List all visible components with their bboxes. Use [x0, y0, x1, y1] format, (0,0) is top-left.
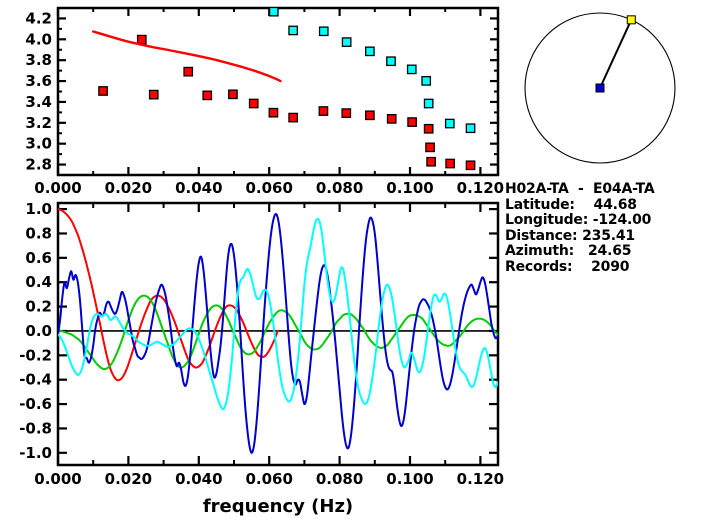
- data-point-marker: [229, 90, 237, 98]
- latitude-row: Latitude: 44.68: [505, 198, 703, 214]
- x-tick-label: 0.020: [105, 470, 152, 488]
- data-point-marker: [270, 7, 278, 15]
- azimuth-row: Azimuth: 24.65: [505, 244, 703, 260]
- x-tick-label: 0.100: [386, 179, 433, 197]
- x-tick-label: 0.000: [34, 179, 81, 197]
- y-tick-label: 4.2: [25, 9, 52, 27]
- blue-station-dot: [596, 84, 604, 92]
- y-tick-label: 2.8: [25, 156, 52, 174]
- y-tick-label: -0.2: [19, 346, 52, 364]
- x-tick-label: 0.080: [316, 179, 363, 197]
- data-point-marker: [203, 91, 211, 99]
- y-tick-label: 3.0: [25, 135, 52, 153]
- x-tick-label: 0.020: [105, 179, 152, 197]
- x-tick-label: 0.080: [316, 470, 363, 488]
- data-point-marker: [387, 57, 395, 65]
- y-tick-label: 1.0: [25, 200, 52, 218]
- y-tick-label: -0.4: [19, 371, 52, 389]
- waveform-plot: 0.0000.0200.0400.0600.0800.1000.120-1.0-…: [0, 196, 505, 519]
- y-tick-label: 3.2: [25, 114, 52, 132]
- x-tick-label: 0.040: [175, 470, 222, 488]
- x-tick-label: 0.100: [386, 470, 433, 488]
- dispersion-plot-svg: 0.0000.0200.0400.0600.0800.1000.1202.83.…: [0, 0, 505, 200]
- y-tick-label: 3.6: [25, 72, 52, 90]
- data-point-marker: [446, 159, 454, 167]
- data-point-marker: [388, 115, 396, 123]
- data-point-marker: [366, 47, 374, 55]
- data-point-marker: [342, 38, 350, 46]
- data-point-marker: [426, 143, 434, 151]
- dispersion-plot: 0.0000.0200.0400.0600.0800.1000.1202.83.…: [0, 0, 505, 200]
- y-tick-label: -0.6: [19, 395, 52, 413]
- data-point-marker: [466, 161, 474, 169]
- y-tick-label: 0.4: [25, 273, 52, 291]
- data-point-marker: [342, 109, 350, 117]
- station-pair-map: [505, 0, 703, 182]
- station-pair-map-svg: [505, 0, 703, 182]
- y-tick-label: 0.8: [25, 224, 52, 242]
- data-point-marker: [424, 99, 432, 107]
- data-point-marker: [427, 158, 435, 166]
- data-point-marker: [466, 124, 474, 132]
- data-point-marker: [184, 67, 192, 75]
- data-point-marker: [424, 125, 432, 133]
- x-tick-label: 0.040: [175, 179, 222, 197]
- data-point-marker: [138, 35, 146, 43]
- longitude-row: Longitude: -124.00: [505, 213, 703, 229]
- data-point-marker: [366, 111, 374, 119]
- records-row: Records: 2090: [505, 260, 703, 276]
- station-pair-title: H02A-TA - E04A-TA: [505, 182, 703, 198]
- y-tick-label: 3.8: [25, 51, 52, 69]
- data-point-marker: [319, 107, 327, 115]
- data-point-marker: [422, 77, 430, 85]
- x-tick-label: 0.060: [245, 470, 292, 488]
- data-point-marker: [320, 27, 328, 35]
- data-point-marker: [250, 99, 258, 107]
- y-tick-label: -0.8: [19, 419, 52, 437]
- data-point-marker: [289, 113, 297, 121]
- x-tick-label: 0.120: [457, 470, 504, 488]
- y-tick-label: 0.0: [25, 322, 52, 340]
- azimuth-line: [600, 20, 631, 88]
- x-tick-label: 0.000: [34, 470, 81, 488]
- yellow-station-dot: [627, 16, 635, 24]
- data-point-marker: [150, 90, 158, 98]
- y-tick-label: 4.0: [25, 30, 52, 48]
- data-point-marker: [408, 65, 416, 73]
- data-point-marker: [408, 118, 416, 126]
- y-tick-label: -1.0: [19, 444, 52, 462]
- data-point-marker: [99, 87, 107, 95]
- distance-row: Distance: 235.41: [505, 229, 703, 245]
- waveform-plot-svg: 0.0000.0200.0400.0600.0800.1000.120-1.0-…: [0, 196, 505, 519]
- data-point-marker: [269, 108, 277, 116]
- x-axis-title: frequency (Hz): [203, 496, 353, 517]
- y-tick-label: 0.6: [25, 249, 52, 267]
- x-tick-label: 0.060: [245, 179, 292, 197]
- data-point-marker: [446, 119, 454, 127]
- data-point-marker: [289, 26, 297, 34]
- x-tick-label: 0.120: [457, 179, 504, 197]
- metadata-panel: H02A-TA - E04A-TA Latitude: 44.68 Longit…: [505, 182, 703, 276]
- y-tick-label: 0.2: [25, 298, 52, 316]
- y-tick-label: 3.4: [25, 93, 52, 111]
